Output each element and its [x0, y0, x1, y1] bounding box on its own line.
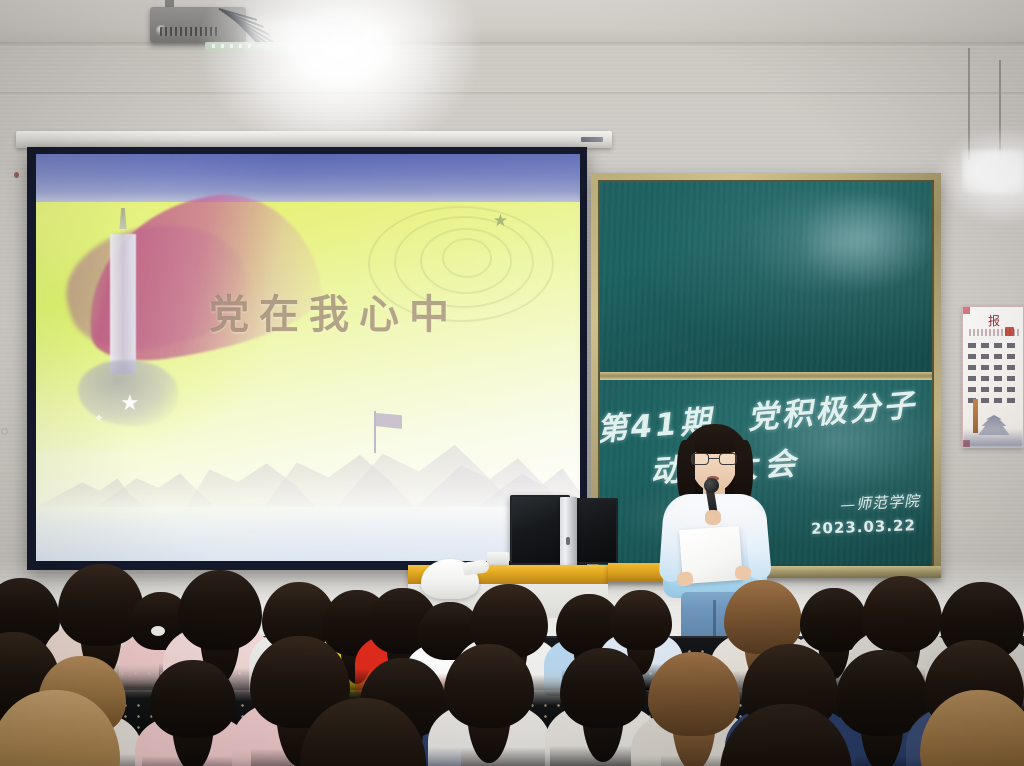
blackboard-upper-panel: [600, 182, 932, 372]
blackboard-divider: [600, 372, 932, 380]
audience-member-hair-tie: [151, 626, 165, 636]
slide-title-text: 党在我心中: [36, 282, 580, 340]
wall-screw: [1, 428, 8, 435]
glasses-lens-right: [719, 453, 737, 465]
projection-screen: ★ ★ ✦ 党在我心中: [27, 147, 587, 570]
audience-member-head: [724, 580, 802, 654]
blackboard-glare: [806, 197, 932, 289]
audience-member-head: [610, 590, 672, 650]
audience-member-head: [560, 648, 646, 728]
slide-star-icon: ★: [493, 212, 508, 229]
audience-seating: [0, 540, 1024, 766]
audience-member-head: [444, 644, 534, 728]
slide-top-band: [36, 154, 580, 202]
screen-brand-label: [581, 137, 603, 142]
slide-mountain-silhouettes: [36, 399, 580, 507]
wall-seam: [0, 92, 1024, 95]
audience-member-head: [150, 660, 236, 738]
projection-screen-surface: ★ ★ ✦ 党在我心中: [36, 154, 580, 561]
projector-glare-streak: [236, 18, 386, 52]
blackboard-signature: —师范学院: [839, 490, 920, 515]
slide-small-flagpole: [374, 411, 376, 453]
poster-pillar-illustration: [973, 399, 978, 433]
poster-ink-wash: [963, 429, 1023, 447]
ceiling-lamp: [962, 150, 1024, 194]
audience-member-head: [862, 576, 942, 652]
poster-seal-icon: [1005, 327, 1014, 336]
glasses-lens-left: [691, 453, 709, 465]
speaker-hand-holding-mic: [705, 510, 721, 525]
blackboard-date: 2023.03.22: [811, 516, 916, 538]
classroom-photo: ★ ★ ✦ 党在我心中 第41期: [0, 0, 1024, 766]
poster-corner-tl: [963, 307, 970, 314]
poster-text-columns: [968, 343, 1020, 407]
projection-screen-housing: [16, 131, 612, 148]
wall-mark: [14, 172, 19, 178]
audience-member-head: [648, 652, 740, 736]
speaker-glasses-icon: [691, 453, 737, 465]
audience-member-head: [178, 570, 262, 650]
glasses-bridge: [709, 458, 719, 459]
wall-poster: 报: [962, 306, 1024, 448]
